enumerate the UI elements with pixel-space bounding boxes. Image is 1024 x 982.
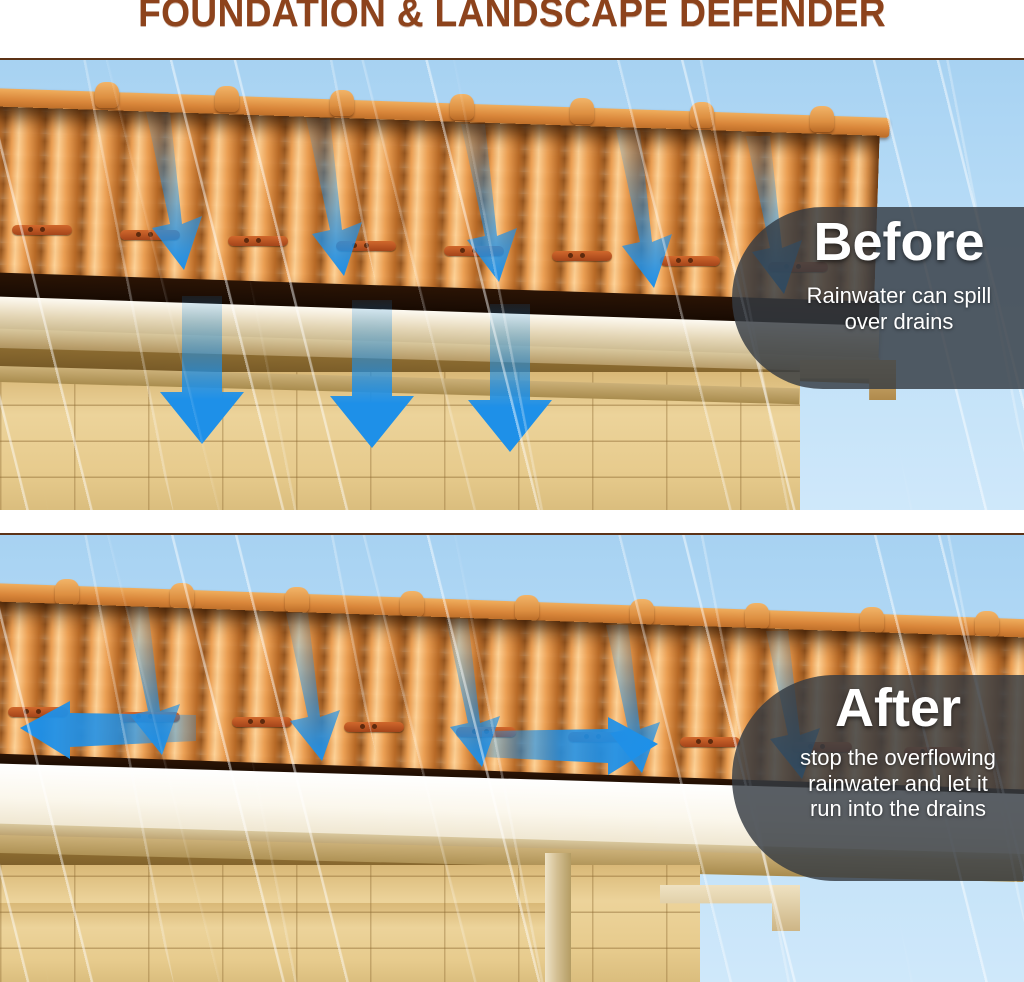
title-bar: FOUNDATION & LANDSCAPE DEFENDER bbox=[0, 0, 1024, 58]
after-subtitle-line: rainwater and let it bbox=[782, 771, 1014, 797]
ridge-cap bbox=[515, 595, 539, 621]
panel-before: Before Rainwater can spill over drains bbox=[0, 58, 1024, 514]
ridge-cap bbox=[285, 587, 309, 613]
ridge-cap bbox=[215, 86, 239, 112]
ridge-cap bbox=[975, 611, 999, 637]
ridge-cap bbox=[570, 98, 594, 124]
ridge-cap bbox=[810, 106, 834, 132]
product-infographic: FOUNDATION & LANDSCAPE DEFENDER bbox=[0, 0, 1024, 980]
flow-arrow-diagonal bbox=[455, 124, 545, 284]
ridge-cap bbox=[745, 603, 769, 629]
page-title: FOUNDATION & LANDSCAPE DEFENDER bbox=[36, 0, 988, 36]
overflow-arrow-vertical bbox=[468, 304, 558, 454]
ridge-cap bbox=[95, 82, 119, 108]
ridge-cap bbox=[690, 102, 714, 128]
tile-clip bbox=[228, 236, 288, 246]
overflow-arrow-vertical bbox=[330, 300, 420, 450]
before-subtitle-line: over drains bbox=[788, 309, 1010, 335]
flow-arrow-diagonal bbox=[280, 613, 370, 763]
diverted-arrow-left bbox=[18, 701, 198, 761]
flow-arrow-diagonal bbox=[610, 130, 700, 290]
ridge-cap bbox=[860, 607, 884, 633]
tile-clip bbox=[552, 251, 612, 261]
tile-clip bbox=[12, 225, 72, 235]
before-subtitle-line: Rainwater can spill bbox=[788, 283, 1010, 309]
flow-arrow-diagonal bbox=[140, 112, 230, 272]
panel-divider bbox=[0, 510, 1024, 533]
after-subtitle-line: stop the overflowing bbox=[782, 745, 1014, 771]
ridge-cap bbox=[450, 94, 474, 120]
ridge-cap bbox=[170, 583, 194, 609]
ridge-cap bbox=[400, 591, 424, 617]
ridge-cap bbox=[55, 579, 79, 605]
ridge-cap bbox=[330, 90, 354, 116]
diverted-arrow-right bbox=[480, 717, 660, 777]
panel-after: After stop the overflowing rainwater and… bbox=[0, 533, 1024, 982]
after-subtitle-line: run into the drains bbox=[782, 796, 1014, 822]
after-title: After bbox=[782, 681, 1014, 735]
after-label-overlay: After stop the overflowing rainwater and… bbox=[732, 675, 1024, 881]
after-subtitle: stop the overflowing rainwater and let i… bbox=[782, 745, 1014, 822]
before-subtitle: Rainwater can spill over drains bbox=[788, 283, 1010, 334]
flow-arrow-diagonal bbox=[300, 118, 390, 278]
overflow-arrow-vertical bbox=[160, 296, 250, 446]
before-label-overlay: Before Rainwater can spill over drains bbox=[732, 207, 1024, 389]
downspout bbox=[545, 853, 571, 982]
brick-wall bbox=[0, 903, 560, 982]
ridge-cap bbox=[630, 599, 654, 625]
before-title: Before bbox=[788, 215, 1010, 269]
